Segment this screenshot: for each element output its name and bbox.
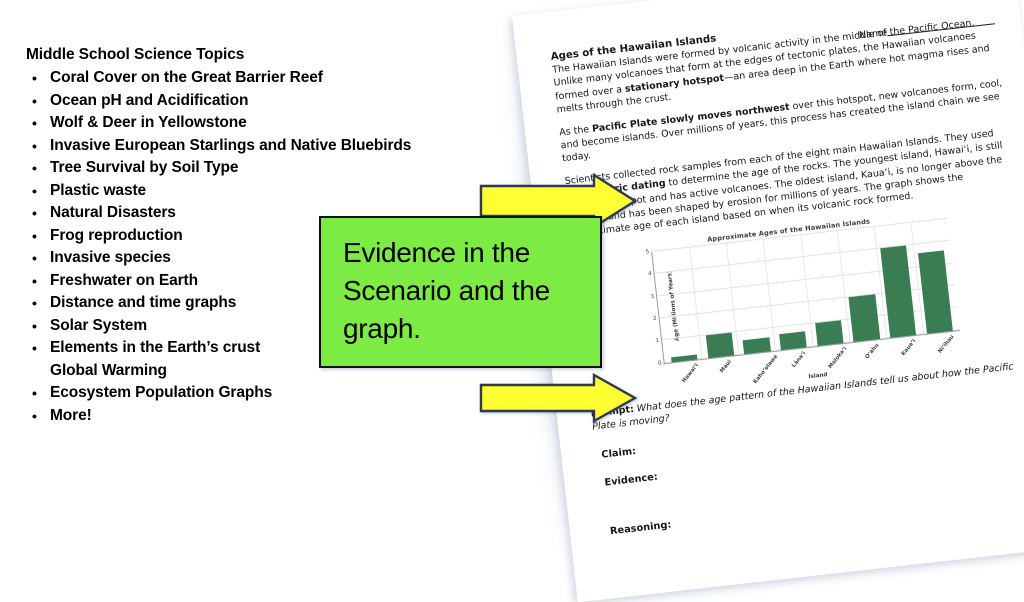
- list-item-label: Plastic waste: [50, 180, 466, 203]
- hawaiian-islands-bar-chart: Approximate Ages of the Hawaiian Islands…: [624, 208, 969, 394]
- list-item: •Tree Survival by Soil Type: [26, 157, 466, 180]
- bullet-icon: •: [26, 135, 50, 158]
- list-item: •Plastic waste: [26, 180, 466, 203]
- bullet-icon: •: [26, 382, 50, 405]
- bullet-icon: •: [26, 315, 50, 338]
- chart-bar: [815, 321, 844, 346]
- bullet-icon: •: [26, 247, 50, 270]
- chart-x-slot: Molokaʻi: [812, 343, 852, 377]
- list-item-label: More!: [50, 405, 466, 428]
- chart-x-slot: Hawaiʻi: [666, 360, 706, 394]
- chart-x-tick: Lānaʻi: [791, 351, 807, 369]
- chart-x-tick: Kauaʻi: [901, 338, 918, 357]
- list-item-label: Ocean pH and Acidification: [50, 90, 466, 113]
- list-item-label: Ecosystem Population Graphs: [50, 382, 466, 405]
- scenario-text-run: As the: [559, 123, 593, 138]
- chart-bar: [880, 246, 916, 338]
- bullet-icon: •: [26, 157, 50, 180]
- chart-x-slot: Kahoʻolawe: [739, 352, 779, 386]
- bullet-icon: •: [26, 67, 50, 90]
- callout-text: Evidence in the Scenario and the graph.: [343, 234, 586, 348]
- chart-x-tick: Niʻihau: [937, 334, 955, 355]
- chart-x-slot: Oʻahu: [848, 339, 888, 373]
- list-item: •Ocean pH and Acidification: [26, 90, 466, 113]
- chart-x-tick: Molokaʻi: [827, 346, 848, 370]
- chart-x-tick: Hawaiʻi: [681, 363, 700, 384]
- bullet-icon: •: [26, 112, 50, 135]
- chart-x-slot: Niʻihau: [921, 331, 961, 365]
- reasoning-label: Reasoning:: [609, 477, 1024, 537]
- chart-y-tick: 3: [650, 294, 654, 300]
- evidence-label: Evidence:: [604, 428, 1024, 488]
- chart-bar: [918, 251, 953, 334]
- list-item-label: Tree Survival by Soil Type: [50, 157, 466, 180]
- list-item: •Coral Cover on the Great Barrier Reef: [26, 67, 466, 90]
- bullet-icon: •: [26, 90, 50, 113]
- chart-x-slot: Lānaʻi: [775, 348, 815, 382]
- list-item-label: Coral Cover on the Great Barrier Reef: [50, 67, 466, 90]
- chart-x-tick: Oʻahu: [865, 342, 881, 360]
- list-item-label: Wolf & Deer in Yellowstone: [50, 112, 466, 135]
- list-item: •More!: [26, 405, 466, 428]
- chart-bar: [849, 294, 880, 341]
- chart-x-tick: Maui: [719, 359, 733, 374]
- list-item-label: Invasive European Starlings and Native B…: [50, 135, 466, 158]
- chart-y-tick: 0: [658, 360, 662, 366]
- bullet-icon: •: [26, 337, 50, 360]
- list-item: •Invasive European Starlings and Native …: [26, 135, 466, 158]
- arrow-to-graph-icon: [478, 372, 638, 429]
- chart-y-tick: 2: [653, 316, 657, 322]
- bullet-icon: •: [26, 202, 50, 225]
- chart-x-slot: Maui: [702, 356, 742, 390]
- bullet-icon: •: [26, 292, 50, 315]
- chart-bar: [779, 331, 807, 350]
- bullet-icon: •: [26, 225, 50, 248]
- chart-x-slot: Kauaʻi: [885, 335, 925, 369]
- chart-y-tick: 4: [648, 271, 652, 277]
- chart-x-tick: Kahoʻolawe: [753, 354, 780, 385]
- chart-y-tick: 5: [645, 249, 649, 255]
- chart-y-tick: 1: [655, 338, 659, 344]
- list-item: •Ecosystem Population Graphs: [26, 382, 466, 405]
- bullet-icon: •: [26, 180, 50, 203]
- page-title: Middle School Science Topics: [26, 46, 466, 64]
- chart-bar: [706, 333, 735, 358]
- bullet-icon: •: [26, 405, 50, 428]
- list-item: •Wolf & Deer in Yellowstone: [26, 112, 466, 135]
- callout-box: Evidence in the Scenario and the graph.: [319, 216, 602, 368]
- bullet-icon: •: [26, 270, 50, 293]
